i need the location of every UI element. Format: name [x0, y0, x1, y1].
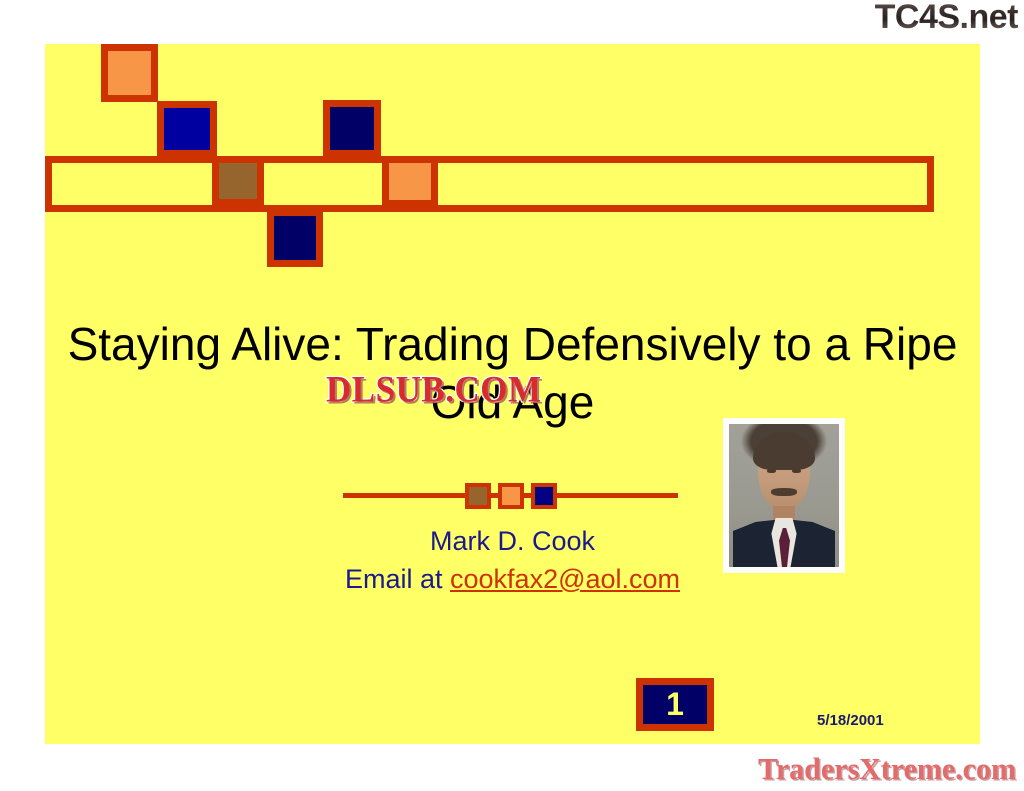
decor-orange-square-in-bar	[382, 156, 438, 207]
decor-horizontal-bar	[45, 156, 934, 212]
decor-divider-navy-square	[531, 483, 557, 509]
page-number-badge: 1	[636, 678, 714, 731]
email-line: Email at cookfax2@aol.com	[45, 560, 980, 598]
dlsub-watermark: DLSUB.COM	[326, 371, 542, 408]
decor-orange-square-top-left	[101, 44, 158, 102]
tradersxtreme-logo: TradersXtreme.com	[758, 753, 1016, 788]
speaker-photo-frame	[723, 418, 845, 573]
slide-date: 5/18/2001	[817, 712, 884, 729]
decor-navy-square-upper-left	[157, 101, 217, 157]
decor-divider	[343, 475, 678, 515]
tc4s-site-logo: TC4S.net	[875, 0, 1018, 37]
photo-right-eye-shape	[792, 469, 801, 473]
byline-block: Mark D. Cook Email at cookfax2@aol.com	[45, 522, 980, 598]
photo-moustache-shape	[771, 488, 797, 496]
decor-navy-square-below-bar	[267, 209, 323, 267]
email-label: Email at	[345, 564, 450, 594]
decor-divider-orange-square	[498, 483, 524, 509]
speaker-photo	[729, 424, 839, 567]
decor-divider-brown-square	[465, 483, 491, 509]
email-link[interactable]: cookfax2@aol.com	[450, 564, 680, 594]
photo-left-eye-shape	[767, 469, 776, 473]
author-name: Mark D. Cook	[45, 522, 980, 560]
decor-navy-square-upper-right	[323, 100, 381, 157]
decor-brown-square-in-bar	[212, 156, 264, 206]
photo-hair-shape	[753, 432, 815, 470]
